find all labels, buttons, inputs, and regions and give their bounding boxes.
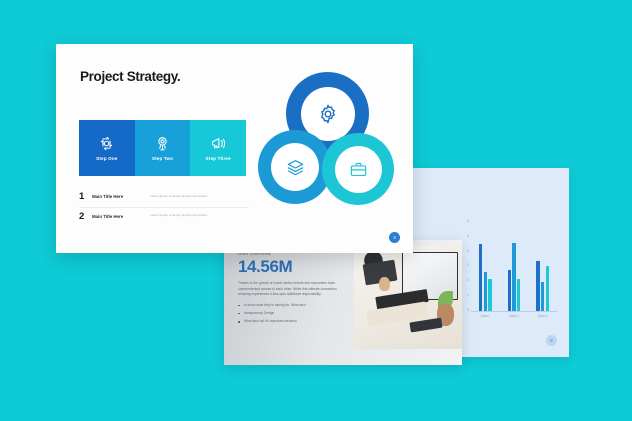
bar-chart: 6543210 Data 1Data 2Data 3 [457, 220, 557, 325]
bar[interactable] [541, 282, 544, 311]
y-axis-tick: 4 [467, 250, 469, 253]
steps-row: Step OneStep TwoStep Three [79, 120, 246, 176]
overview-bullet: transparency Design [238, 311, 346, 316]
bar[interactable] [517, 279, 520, 311]
bar[interactable] [484, 272, 487, 311]
y-axis-tick: 5 [467, 235, 469, 238]
bar[interactable] [546, 266, 549, 312]
bar-group [479, 220, 491, 311]
briefcase-icon [335, 146, 382, 193]
y-axis-tick: 1 [467, 294, 469, 297]
overview-bullet: What also out it's important decision [238, 319, 346, 324]
lightbulb-gear-icon [154, 135, 171, 152]
cycle-arrows-icon [98, 135, 115, 152]
presentation-mockup-canvas: 6543210 Data 1Data 2Data 3 5 User Overvi… [0, 0, 632, 421]
list-item-number: 1 [79, 192, 92, 202]
list-item-number: 2 [79, 212, 92, 222]
overview-bullet-list: to know what they're aiming for. What al… [238, 303, 346, 324]
chart-plot-area [471, 220, 557, 312]
page-number-badge: 3 [389, 232, 400, 243]
chart-x-axis: Data 1Data 2Data 3 [471, 314, 557, 318]
y-axis-tick: 2 [467, 279, 469, 282]
desk-workspace-photo [354, 246, 462, 349]
bar[interactable] [512, 243, 515, 311]
overview-bullet: to know what they're aiming for. What al… [238, 303, 346, 308]
step-card-3[interactable]: Step Three [190, 120, 246, 176]
x-axis-label: Data 2 [509, 314, 519, 318]
page-title: Project Strategy. [80, 69, 180, 84]
layers-icon [271, 143, 319, 191]
bar[interactable] [479, 244, 482, 311]
list-item[interactable]: 2Main Title HereLorem Ipsum is simply du… [79, 208, 249, 227]
step-label: Step Two [152, 156, 173, 161]
circle-briefcase[interactable] [322, 133, 394, 205]
page-number-badge: 5 [546, 335, 557, 346]
step-label: Step One [96, 156, 117, 161]
list-item-title: Main Title Here [92, 192, 150, 199]
x-axis-label: Data 3 [538, 314, 548, 318]
circle-icon-group [252, 70, 402, 220]
slide-user-overview[interactable]: User Overview 14.56M Thanks to the growt… [224, 240, 462, 365]
list-item[interactable]: 1Main Title HereLorem Ipsum is simply du… [79, 188, 249, 208]
overview-metric: 14.56M [238, 258, 346, 276]
list-item-title: Main Title Here [92, 212, 150, 219]
bar[interactable] [508, 270, 511, 311]
y-axis-tick: 6 [467, 220, 469, 223]
photo-device [410, 318, 444, 333]
x-axis-label: Data 1 [480, 314, 490, 318]
overview-text-column: User Overview 14.56M Thanks to the growt… [238, 251, 346, 328]
bar-group [536, 220, 548, 311]
y-axis-tick: 3 [467, 264, 469, 267]
overview-paragraph: Thanks to the growth of social media, br… [238, 281, 346, 298]
list-item-description: Lorem Ipsum is simply dummy text Ipsum. [150, 192, 249, 198]
step-label: Step Three [206, 156, 231, 161]
numbered-list: 1Main Title HereLorem Ipsum is simply du… [79, 188, 249, 226]
y-axis-tick: 0 [467, 309, 469, 312]
bar[interactable] [536, 261, 539, 311]
megaphone-icon [210, 135, 227, 152]
bar[interactable] [488, 279, 491, 311]
photo-cup [379, 277, 390, 291]
list-item-description: Lorem Ipsum is simply dummy text Ipsum. [150, 212, 249, 218]
step-card-2[interactable]: Step Two [135, 120, 191, 176]
bar-group [508, 220, 520, 311]
step-card-1[interactable]: Step One [79, 120, 135, 176]
slide-project-strategy[interactable]: Project Strategy. Step OneStep TwoStep T… [56, 44, 413, 253]
circle-layers[interactable] [258, 130, 332, 204]
